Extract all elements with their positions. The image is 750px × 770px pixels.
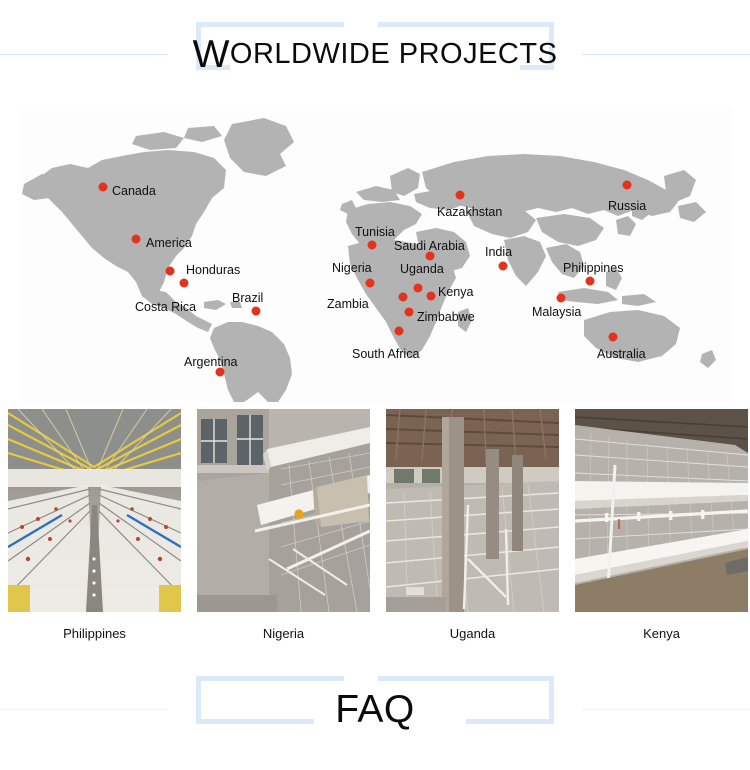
page-title-initial: W <box>193 35 230 74</box>
map-label-russia: Russia <box>608 200 646 213</box>
map-label-saudi-arabia: Saudi Arabia <box>394 240 465 253</box>
map-marker-america <box>132 235 141 244</box>
map-marker-uganda <box>414 284 423 293</box>
map-marker-south-africa <box>395 327 404 336</box>
map-label-south-africa: South Africa <box>352 348 419 361</box>
map-label-honduras: Honduras <box>186 264 240 277</box>
map-marker-zimbabwe <box>405 308 414 317</box>
map-marker-brazil <box>252 307 261 316</box>
map-marker-nigeria <box>366 279 375 288</box>
project-photo-cell: Nigeria <box>197 409 370 641</box>
map-label-india: India <box>485 246 512 259</box>
map-marker-india <box>499 262 508 271</box>
map-marker-kazakhstan <box>456 191 465 200</box>
map-marker-canada <box>99 183 108 192</box>
faq-title: FAQ <box>335 690 415 729</box>
map-marker-russia <box>623 181 632 190</box>
map-label-nigeria: Nigeria <box>332 262 372 275</box>
map-label-tunisia: Tunisia <box>355 226 395 239</box>
worldwide-projects-banner: WORLDWIDE PROJECTS <box>0 22 750 86</box>
map-label-argentina: Argentina <box>184 356 238 369</box>
faq-title-wrap: FAQ <box>0 676 750 742</box>
project-photo-caption: Philippines <box>8 627 181 640</box>
map-label-australia: Australia <box>597 348 646 361</box>
project-photo-caption: Kenya <box>575 627 748 640</box>
project-photo-cell: Uganda <box>386 409 559 641</box>
project-photo-caption: Uganda <box>386 627 559 640</box>
map-label-malaysia: Malaysia <box>532 306 581 319</box>
map-label-brazil: Brazil <box>232 292 263 305</box>
map-marker-tunisia <box>368 241 377 250</box>
map-marker-zambia <box>399 293 408 302</box>
page-title: ORLDWIDE PROJECTS <box>230 40 558 69</box>
project-photo-row: Philippines <box>8 409 742 641</box>
map-label-philippines: Philippines <box>563 262 623 275</box>
map-marker-malaysia <box>557 294 566 303</box>
map-label-uganda: Uganda <box>400 263 444 276</box>
map-marker-philippines <box>586 277 595 286</box>
map-marker-costa-rica <box>180 279 189 288</box>
project-photo-cell: Kenya <box>575 409 748 641</box>
map-label-america: America <box>146 237 192 250</box>
project-photo-nigeria[interactable] <box>197 409 370 612</box>
map-label-costa-rica: Costa Rica <box>135 301 196 314</box>
map-label-kenya: Kenya <box>438 286 473 299</box>
project-photo-kenya[interactable] <box>575 409 748 612</box>
map-label-zimbabwe: Zimbabwe <box>417 311 475 324</box>
map-label-canada: Canada <box>112 185 156 198</box>
faq-banner: FAQ <box>0 676 750 742</box>
project-photo-caption: Nigeria <box>197 627 370 640</box>
worldwide-projects-page: WORLDWIDE PROJECTS <box>0 0 750 770</box>
header-title-wrap: WORLDWIDE PROJECTS <box>0 22 750 86</box>
map-marker-honduras <box>166 267 175 276</box>
project-photo-cell: Philippines <box>8 409 181 641</box>
map-marker-australia <box>609 333 618 342</box>
map-marker-kenya <box>427 292 436 301</box>
world-map-panel: CanadaAmericaHondurasCosta RicaBrazilArg… <box>18 106 732 402</box>
project-photo-uganda[interactable] <box>386 409 559 612</box>
map-label-kazakhstan: Kazakhstan <box>437 206 502 219</box>
map-label-zambia: Zambia <box>327 298 369 311</box>
project-photo-philippines[interactable] <box>8 409 181 612</box>
